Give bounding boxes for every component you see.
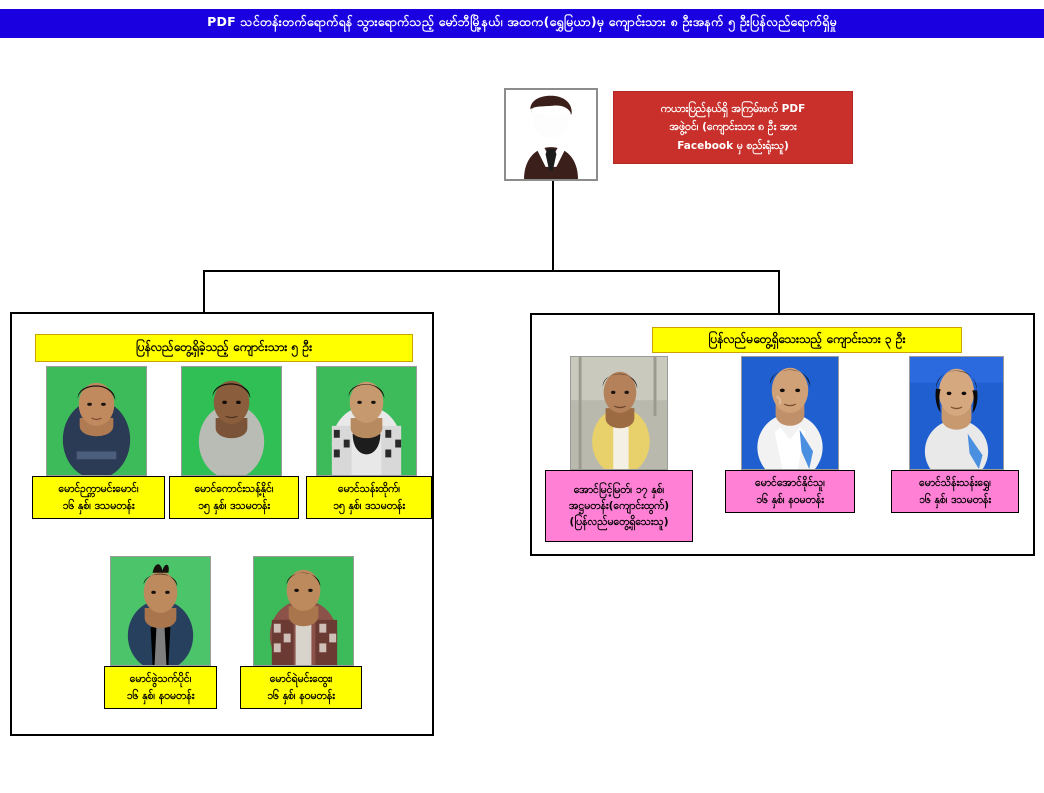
student-caption: မောင်ကောင်းသန့်နိုင်၊ ၁၅ နှစ်၊ ဒသမတန်း: [169, 476, 299, 519]
panel-returned-heading: ပြန်လည်တွေ့ရှိခဲ့သည့် ကျောင်းသား ၅ ဦး: [35, 334, 413, 362]
student-photo: [110, 556, 211, 666]
student-photo: [316, 366, 417, 476]
student-card: မောင်ဉက္ကာမင်းမောင်၊ ၁၆ နှစ်၊ ဒသမတန်း: [32, 366, 165, 519]
root-label-line-3: Facebook မှ စည်းရုံးသူ): [677, 137, 789, 155]
student-name: မောင်သန်းထိုက်၊: [338, 481, 400, 497]
panel-not-returned-heading: ပြန်လည်မတွေ့ရှိသေးသည့် ကျောင်းသား ၃ ဦး: [652, 327, 962, 353]
student-name: အောင်မြင့်မြတ်၊ ၁၇ နှစ်၊: [574, 482, 664, 498]
student-caption: မောင်သန်းထိုက်၊ ၁၅ နှစ်၊ ဒသမတန်း: [306, 476, 432, 519]
student-note: (ပြန်လည်မတွေ့ရှိသေးသူ): [570, 514, 669, 530]
root-label-line-2: အဖွဲ့ဝင်၊ (ကျောင်းသား ၈ ဦး အား: [669, 118, 796, 136]
student-detail: ၁၅ နှစ်၊ ဒသမတန်း: [333, 498, 405, 514]
student-caption: မောင်ဖွဲသက်ပိုင်၊ ၁၆ နှစ်၊ နဝမတန်း: [104, 666, 217, 709]
student-card: မောင်သန်းထိုက်၊ ၁၅ နှစ်၊ ဒသမတန်း: [306, 366, 432, 519]
student-photo: [253, 556, 354, 666]
student-photo: [181, 366, 282, 476]
student-caption: မောင်ရဲမင်းထွေး၊ ၁၆ နှစ်၊ နဝမတန်း: [240, 666, 362, 709]
student-detail: ၁၆ နှစ်၊ နဝမတန်း: [267, 688, 335, 704]
student-card: မောင်ရဲမင်းထွေး၊ ၁၆ နှစ်၊ နဝမတန်း: [240, 556, 362, 709]
connector-vertical-right: [778, 270, 780, 313]
person-avatar-icon: [504, 88, 598, 181]
student-photo: [570, 356, 668, 470]
student-detail: အဋ္ဌမတန်း(ကျောင်းထွက်): [569, 498, 669, 514]
root-label: ကယားပြည်နယ်ရှိ အကြမ်းဖက် PDF အဖွဲ့ဝင်၊ (…: [613, 91, 853, 164]
page-title-banner: PDF သင်တန်းတက်ရောက်ရန် သွားရောက်သည့် မော…: [0, 9, 1044, 38]
student-caption: မောင်သိန်းသန်းရွှေ၊ ၁၆ နှစ်၊ ဒသမတန်း: [891, 470, 1019, 513]
student-detail: ၁၆ နှစ်၊ ဒသမတန်း: [919, 492, 991, 508]
student-photo: [741, 356, 839, 470]
student-card: မောင်ဖွဲသက်ပိုင်၊ ၁၆ နှစ်၊ နဝမတန်း: [97, 556, 217, 709]
student-name: မောင်ဖွဲသက်ပိုင်၊: [130, 671, 192, 687]
student-detail: ၁၅ နှစ်၊ ဒသမတန်း: [198, 498, 270, 514]
connector-vertical-left: [203, 270, 205, 313]
student-card: အောင်မြင့်မြတ်၊ ၁၇ နှစ်၊ အဋ္ဌမတန်း(ကျောင…: [570, 356, 693, 542]
student-photo: [46, 366, 147, 476]
student-name: မောင်ဉက္ကာမင်းမောင်၊: [58, 481, 138, 497]
student-detail: ၁၆ နှစ်၊ ဒသမတန်း: [62, 498, 134, 514]
student-caption: မောင်ဉက္ကာမင်းမောင်၊ ၁၆ နှစ်၊ ဒသမတန်း: [32, 476, 165, 519]
root-node: ကယားပြည်နယ်ရှိ အကြမ်းဖက် PDF အဖွဲ့ဝင်၊ (…: [504, 88, 853, 181]
connector-vertical-main: [552, 181, 554, 271]
student-photo: [909, 356, 1004, 470]
student-name: မောင်ရဲမင်းထွေး၊: [270, 671, 333, 687]
student-caption: အောင်မြင့်မြတ်၊ ၁၇ နှစ်၊ အဋ္ဌမတန်း(ကျောင…: [545, 470, 693, 542]
student-name: မောင်ကောင်းသန့်နိုင်၊: [194, 481, 273, 497]
student-caption: မောင်အောင်နိုင်သူ၊ ၁၆ နှစ်၊ နဝမတန်း: [725, 470, 855, 513]
student-card: မောင်အောင်နိုင်သူ၊ ၁၆ နှစ်၊ နဝမတန်း: [737, 356, 855, 513]
student-name: မောင်အောင်နိုင်သူ၊: [755, 475, 825, 491]
connector-horizontal: [203, 270, 780, 272]
student-card: မောင်သိန်းသန်းရွှေ၊ ၁၆ နှစ်၊ ဒသမတန်း: [905, 356, 1019, 513]
root-label-line-1: ကယားပြည်နယ်ရှိ အကြမ်းဖက် PDF: [661, 100, 806, 118]
student-card: မောင်ကောင်းသန့်နိုင်၊ ၁၅ နှစ်၊ ဒသမတန်း: [169, 366, 299, 519]
student-detail: ၁၆ နှစ်၊ နဝမတန်း: [127, 688, 195, 704]
student-detail: ၁၆ နှစ်၊ နဝမတန်း: [756, 492, 824, 508]
student-name: မောင်သိန်းသန်းရွှေ၊: [919, 475, 991, 491]
page-title-text: PDF သင်တန်းတက်ရောက်ရန် သွားရောက်သည့် မော…: [207, 14, 837, 33]
